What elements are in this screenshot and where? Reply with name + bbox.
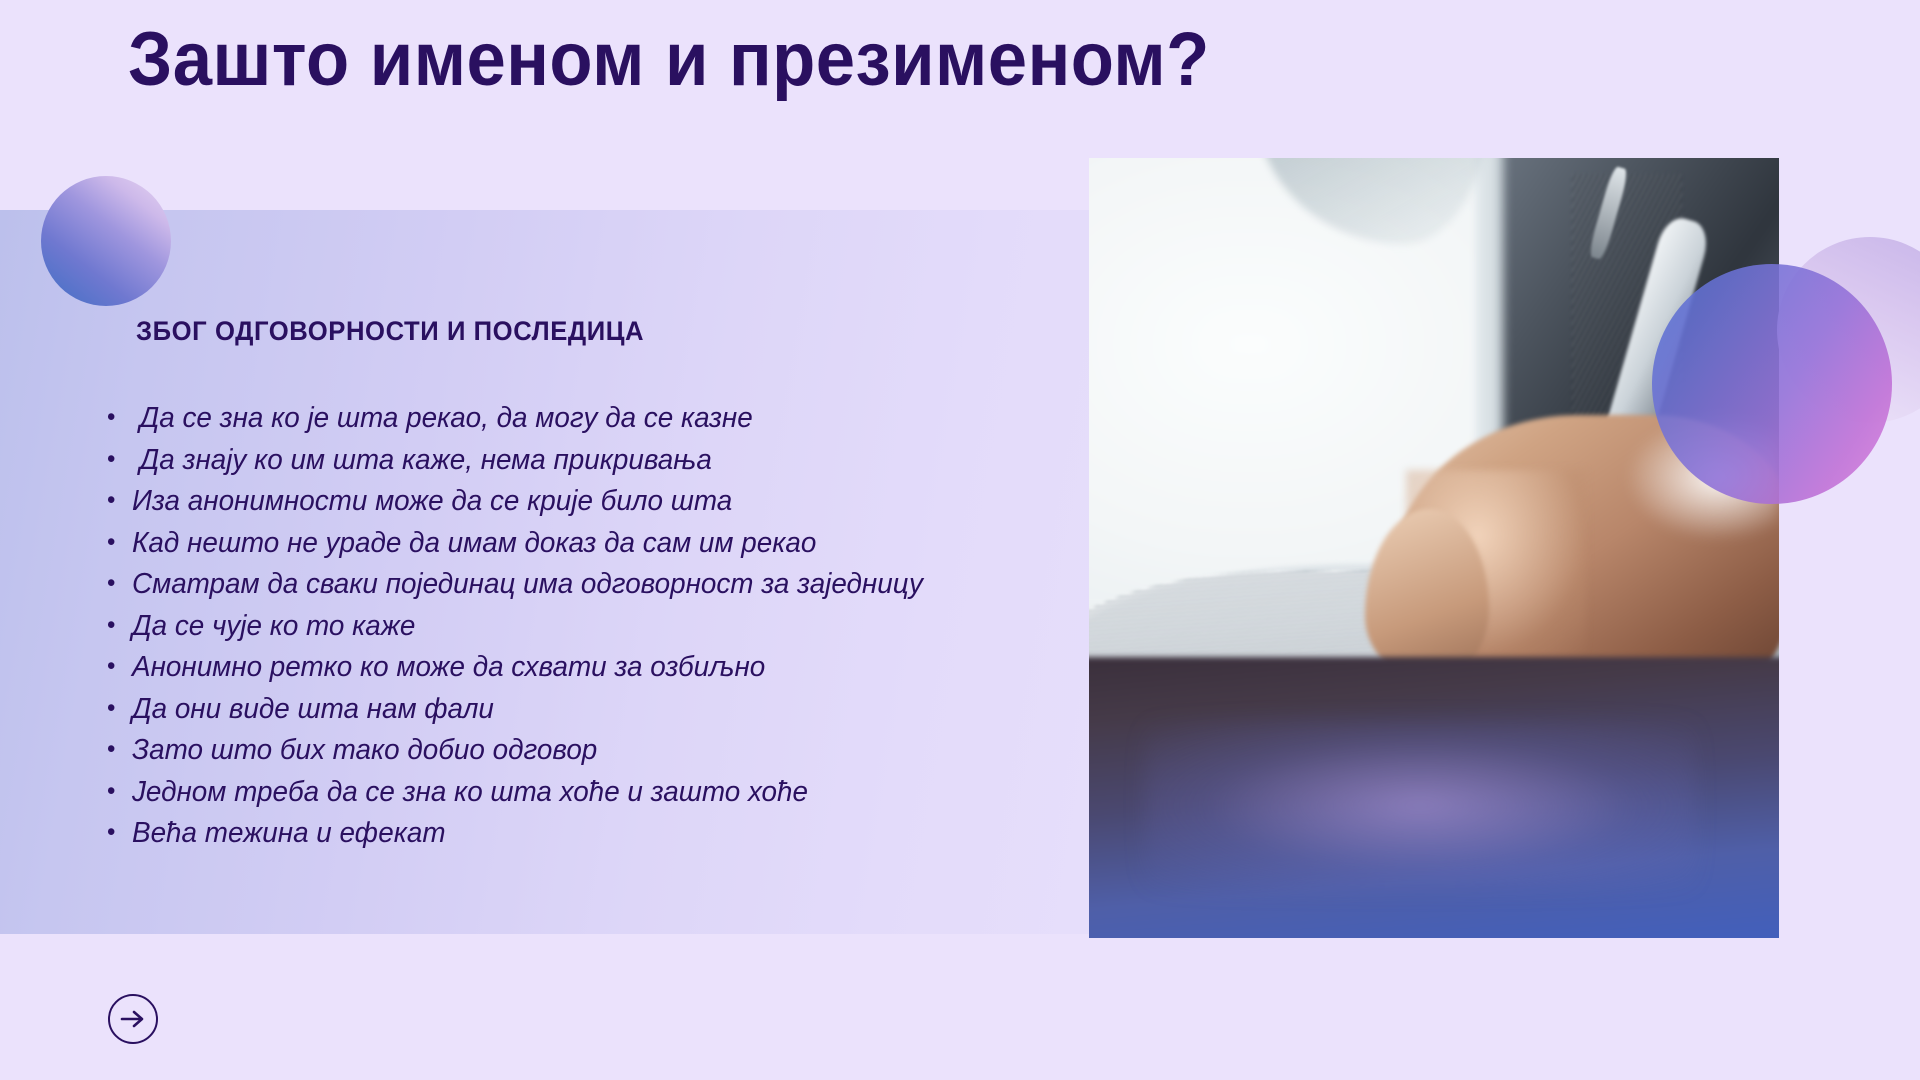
gradient-circle-right-big [1652, 264, 1892, 504]
section-heading: ЗБОГ ОДГОВОРНОСТИ И ПОСЛЕДИЦА [136, 316, 644, 347]
list-item: Да они виде шта нам фали [132, 689, 1054, 731]
slide-canvas: Зашто именом и презименом? ЗБОГ ОДГОВОРН… [0, 0, 1920, 1080]
page-title: Зашто именом и презименом? [128, 18, 1210, 102]
reasons-list: Да се зна ко је шта рекао, да могу да се… [96, 398, 1092, 855]
arrow-right-circle-icon [120, 1009, 146, 1029]
list-item: Једном треба да се зна ко шта хоће и заш… [132, 772, 1054, 814]
next-slide-button[interactable] [108, 994, 158, 1044]
gradient-circle-left [41, 176, 171, 306]
list-item: Анонимно ретко ко може да схвати за озби… [132, 647, 1054, 689]
list-item: Да се зна ко је шта рекао, да могу да се… [132, 398, 1054, 440]
desk-reflection [1144, 720, 1696, 892]
list-item: Иза анонимности може да се крије било шт… [132, 481, 1054, 523]
list-item: Да се чује ко то каже [132, 606, 1054, 648]
list-item: Сматрам да сваки појединац има одговорно… [132, 564, 1054, 606]
list-item: Зато што бих тако добио одговор [132, 730, 1054, 772]
hand-writing-in-notebook-photo [1089, 158, 1779, 938]
list-item: Кад нешто не ураде да имам доказ да сам … [132, 523, 1054, 565]
list-item: Да знају ко им шта каже, нема прикривања [132, 440, 1054, 482]
list-item: Већа тежина и ефекат [132, 813, 1054, 855]
